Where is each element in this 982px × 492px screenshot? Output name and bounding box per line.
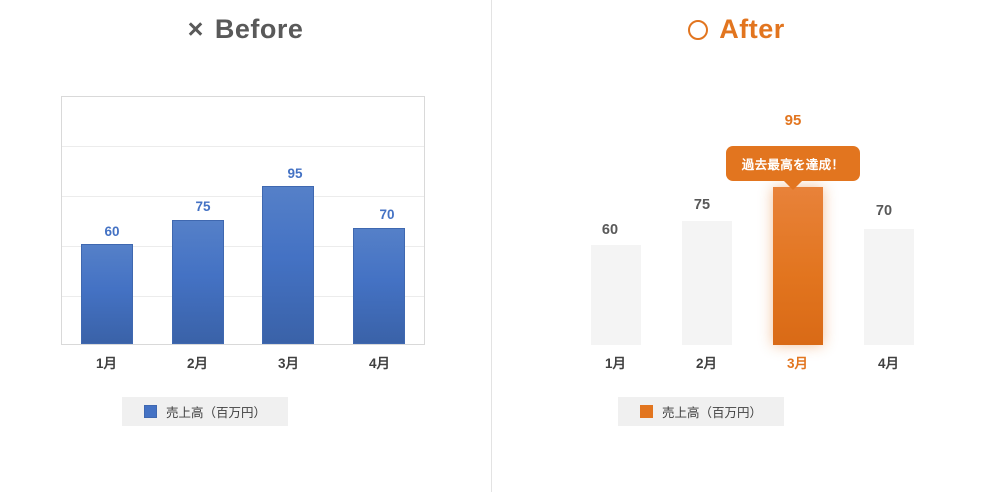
before-band-3	[243, 97, 334, 344]
value-label-before-1: 60	[82, 224, 142, 239]
value-label-before-2: 75	[173, 199, 233, 214]
after-band-3	[752, 96, 843, 345]
x-label-after-4: 4月	[843, 352, 934, 372]
before-x-axis: 1月 2月 3月 4月	[61, 352, 425, 372]
cross-icon: ×	[188, 14, 204, 45]
value-label-after-2: 75	[672, 197, 732, 213]
callout-text: 過去最高を達成！	[742, 154, 844, 173]
after-band-1	[570, 96, 661, 345]
after-x-axis: 1月 2月 3月 4月	[570, 352, 934, 372]
achievement-callout: 過去最高を達成！	[726, 146, 860, 181]
after-title-text: After	[719, 14, 785, 44]
x-label-after-3-highlighted: 3月	[752, 352, 843, 372]
before-legend-label: 売上高（百万円）	[166, 402, 266, 421]
legend-swatch-icon	[144, 405, 157, 418]
after-band-2	[661, 96, 752, 345]
x-label-before-1: 1月	[61, 352, 152, 372]
callout-arrow-icon	[783, 180, 803, 190]
panel-before: ×Before 60 75	[0, 0, 491, 492]
after-band-4	[843, 96, 934, 345]
before-band-2	[153, 97, 244, 344]
before-title: ×Before	[0, 14, 491, 45]
before-band-1	[62, 97, 153, 344]
bar-before-4[interactable]	[353, 228, 405, 344]
bar-before-3[interactable]	[262, 186, 314, 344]
legend-swatch-icon	[640, 405, 653, 418]
bar-after-4[interactable]	[864, 229, 914, 345]
before-title-text: Before	[215, 14, 304, 44]
after-title: After	[491, 14, 982, 45]
x-label-before-2: 2月	[152, 352, 243, 372]
bar-after-2[interactable]	[682, 221, 732, 346]
x-label-before-4: 4月	[334, 352, 425, 372]
x-label-before-3: 3月	[243, 352, 334, 372]
x-label-after-1: 1月	[570, 352, 661, 372]
after-plot-area	[570, 96, 934, 345]
after-legend[interactable]: 売上高（百万円）	[618, 397, 784, 426]
before-legend[interactable]: 売上高（百万円）	[122, 397, 288, 426]
after-legend-label: 売上高（百万円）	[662, 402, 762, 421]
value-label-after-3: 95	[763, 112, 823, 129]
bar-after-1[interactable]	[591, 245, 641, 345]
value-label-before-3: 95	[265, 166, 325, 181]
circle-icon	[688, 20, 708, 40]
bar-before-1[interactable]	[81, 244, 133, 344]
bar-before-2[interactable]	[172, 220, 224, 345]
value-label-after-1: 60	[580, 222, 640, 238]
x-label-after-2: 2月	[661, 352, 752, 372]
bar-after-3-highlighted[interactable]	[773, 187, 823, 345]
value-label-after-4: 70	[854, 203, 914, 219]
after-bars	[570, 96, 934, 345]
value-label-before-4: 70	[357, 207, 417, 222]
comparison-board: ×Before 60 75	[0, 0, 982, 492]
